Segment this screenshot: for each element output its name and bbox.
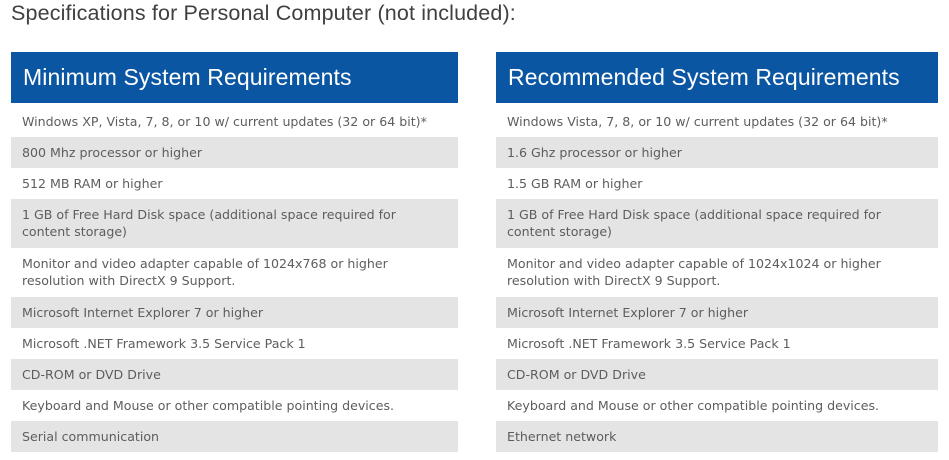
minimum-requirements-column: Minimum System Requirements Windows XP, … xyxy=(11,52,458,452)
list-item: Ethernet network xyxy=(496,421,938,452)
list-item: Serial communication xyxy=(11,421,458,452)
page-title: Specifications for Personal Computer (no… xyxy=(11,1,516,26)
list-item: CD-ROM or DVD Drive xyxy=(11,359,458,390)
recommended-requirements-header: Recommended System Requirements xyxy=(496,52,938,103)
list-item: Windows XP, Vista, 7, 8, or 10 w/ curren… xyxy=(11,106,458,137)
list-item: 1.5 GB RAM or higher xyxy=(496,168,938,199)
list-item: Microsoft Internet Explorer 7 or higher xyxy=(11,297,458,328)
list-item: 1 GB of Free Hard Disk space (additional… xyxy=(11,199,458,248)
list-item: Microsoft Internet Explorer 7 or higher xyxy=(496,297,938,328)
specifications-page: Specifications for Personal Computer (no… xyxy=(0,0,949,460)
requirements-columns: Minimum System Requirements Windows XP, … xyxy=(0,52,949,452)
recommended-requirements-column: Recommended System Requirements Windows … xyxy=(496,52,938,452)
list-item: Monitor and video adapter capable of 102… xyxy=(496,248,938,297)
list-item: Keyboard and Mouse or other compatible p… xyxy=(496,390,938,421)
list-item: Microsoft .NET Framework 3.5 Service Pac… xyxy=(11,328,458,359)
list-item: Microsoft .NET Framework 3.5 Service Pac… xyxy=(496,328,938,359)
list-item: 800 Mhz processor or higher xyxy=(11,137,458,168)
list-item: 1.6 Ghz processor or higher xyxy=(496,137,938,168)
column-gap xyxy=(458,52,496,452)
list-item: Keyboard and Mouse or other compatible p… xyxy=(11,390,458,421)
minimum-requirements-list: Windows XP, Vista, 7, 8, or 10 w/ curren… xyxy=(11,103,458,452)
list-item: CD-ROM or DVD Drive xyxy=(496,359,938,390)
list-item: Windows Vista, 7, 8, or 10 w/ current up… xyxy=(496,106,938,137)
list-item: 512 MB RAM or higher xyxy=(11,168,458,199)
list-item: 1 GB of Free Hard Disk space (additional… xyxy=(496,199,938,248)
recommended-requirements-list: Windows Vista, 7, 8, or 10 w/ current up… xyxy=(496,103,938,452)
list-item: Monitor and video adapter capable of 102… xyxy=(11,248,458,297)
minimum-requirements-header: Minimum System Requirements xyxy=(11,52,458,103)
